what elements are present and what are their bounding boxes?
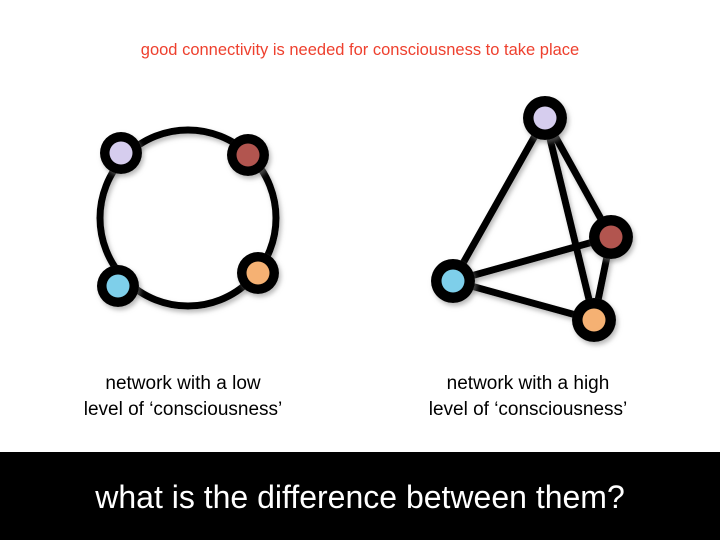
node-orange-core bbox=[583, 309, 606, 332]
node-purple[interactable] bbox=[100, 132, 142, 174]
left-network-diagram bbox=[62, 108, 318, 340]
right-network-edges bbox=[453, 118, 611, 320]
left-caption-line-1: network with a low bbox=[38, 371, 328, 397]
node-cyan[interactable] bbox=[431, 259, 475, 303]
node-purple-core bbox=[110, 142, 133, 165]
right-network-caption: network with a high level of ‘consciousn… bbox=[383, 371, 673, 423]
right-network-diagram bbox=[408, 80, 668, 360]
node-cyan-core bbox=[442, 270, 465, 293]
edge-purple-orange bbox=[545, 118, 594, 320]
page-title: good connectivity is needed for consciou… bbox=[0, 41, 720, 60]
left-caption-line-2: level of ‘consciousness’ bbox=[38, 397, 328, 423]
node-orange[interactable] bbox=[572, 298, 616, 342]
node-cyan[interactable] bbox=[97, 265, 139, 307]
banner-question-text: what is the difference between them? bbox=[95, 479, 625, 516]
bottom-banner: what is the difference between them? bbox=[0, 452, 720, 540]
left-network-caption: network with a low level of ‘consciousne… bbox=[38, 371, 328, 423]
slide-canvas: good connectivity is needed for consciou… bbox=[0, 0, 720, 540]
node-orange-core bbox=[247, 262, 270, 285]
node-cyan-core bbox=[107, 275, 130, 298]
right-caption-line-1: network with a high bbox=[383, 371, 673, 397]
right-caption-line-2: level of ‘consciousness’ bbox=[383, 397, 673, 423]
node-purple[interactable] bbox=[523, 96, 567, 140]
node-red-core bbox=[600, 226, 623, 249]
node-red[interactable] bbox=[589, 215, 633, 259]
left-network-nodes bbox=[97, 132, 279, 307]
node-purple-core bbox=[534, 107, 557, 130]
node-orange[interactable] bbox=[237, 252, 279, 294]
node-red-core bbox=[237, 144, 260, 167]
node-red[interactable] bbox=[227, 134, 269, 176]
